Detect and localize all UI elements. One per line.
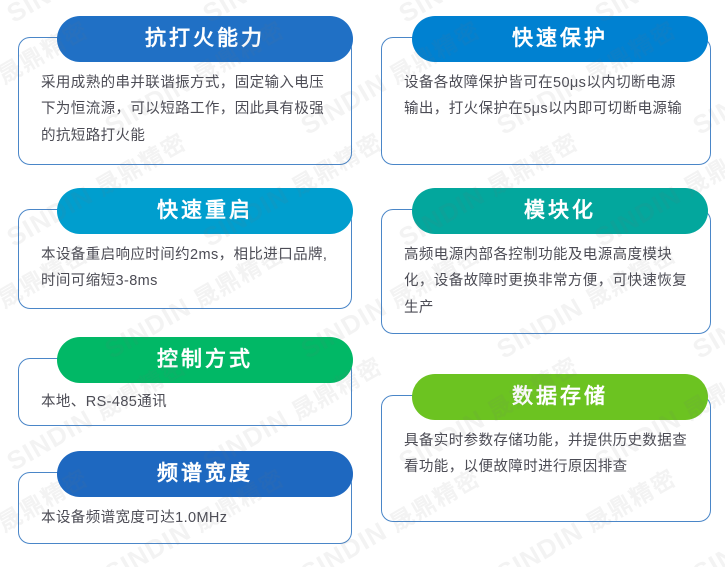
feature-card-board: 抗打火能力 采用成熟的串并联谐振方式，固定输入电压下为恒流源，可以短路工作，因此…: [0, 0, 725, 567]
feature-card-title-anti-arc: 抗打火能力: [57, 16, 353, 62]
feature-card-spectrum-width: 频谱宽度 本设备频谱宽度可达1.0MHz: [18, 472, 352, 544]
feature-card-body-spectrum-width: 本设备频谱宽度可达1.0MHz: [19, 505, 351, 531]
feature-card-body-modular: 高频电源内部各控制功能及电源高度模块化，设备故障时更换非常方便，可快速恢复生产: [382, 242, 710, 321]
feature-card-body-control-mode: 本地、RS-485通讯: [19, 389, 351, 415]
feature-card-body-anti-arc: 采用成熟的串并联谐振方式，固定输入电压下为恒流源，可以短路工作，因此具有极强的抗…: [19, 70, 351, 149]
feature-card-body-fast-protection: 设备各故障保护皆可在50μs以内切断电源输出，打火保护在5μs以内即可切断电源输: [382, 70, 710, 123]
feature-card-fast-protection: 快速保护 设备各故障保护皆可在50μs以内切断电源输出，打火保护在5μs以内即可…: [381, 37, 711, 165]
feature-card-title-modular: 模块化: [412, 188, 708, 234]
feature-card-title-spectrum-width: 频谱宽度: [57, 451, 353, 497]
feature-card-title-data-storage: 数据存储: [412, 374, 708, 420]
feature-card-data-storage: 数据存储 具备实时参数存储功能，并提供历史数据查看功能，以便故障时进行原因排查: [381, 395, 711, 522]
feature-card-title-fast-restart: 快速重启: [57, 188, 353, 234]
feature-card-anti-arc: 抗打火能力 采用成熟的串并联谐振方式，固定输入电压下为恒流源，可以短路工作，因此…: [18, 37, 352, 165]
feature-card-fast-restart: 快速重启 本设备重启响应时间约2ms，相比进口品牌,时间可缩短3-8ms: [18, 209, 352, 309]
feature-card-modular: 模块化 高频电源内部各控制功能及电源高度模块化，设备故障时更换非常方便，可快速恢…: [381, 209, 711, 334]
feature-card-control-mode: 控制方式 本地、RS-485通讯: [18, 358, 352, 426]
feature-card-title-control-mode: 控制方式: [57, 337, 353, 383]
feature-card-body-fast-restart: 本设备重启响应时间约2ms，相比进口品牌,时间可缩短3-8ms: [19, 242, 351, 295]
feature-card-title-fast-protection: 快速保护: [412, 16, 708, 62]
feature-card-body-data-storage: 具备实时参数存储功能，并提供历史数据查看功能，以便故障时进行原因排查: [382, 428, 710, 481]
